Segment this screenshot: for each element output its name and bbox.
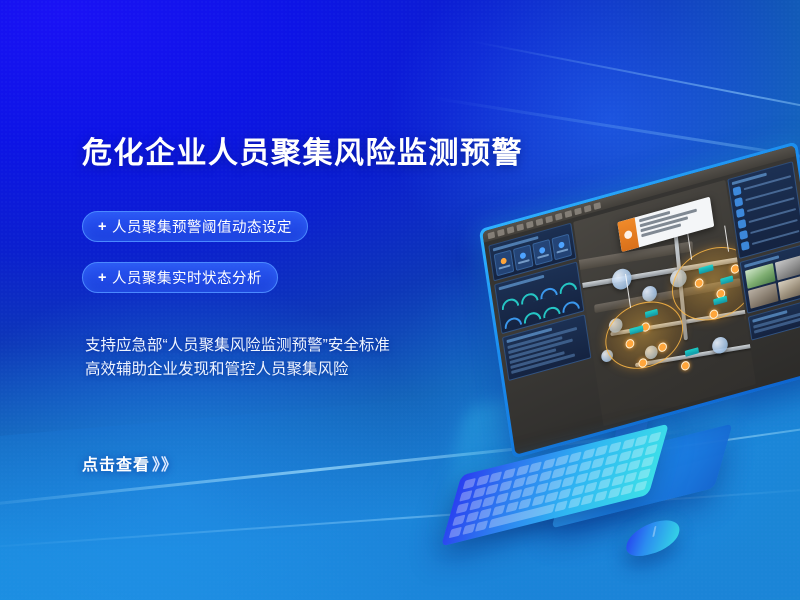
alarm-list-card [727,161,800,259]
gauge-ring [541,297,561,319]
description-line-1: 支持应急部“人员聚集风险监测预警”安全标准 [85,334,390,358]
cta-link[interactable]: 点击查看》》 [82,451,178,475]
feature-pill-label: 人员聚集预警阈值动态设定 [112,216,292,237]
feature-pill-label: 人员聚集实时状态分析 [112,267,262,288]
gauge-icon [558,241,565,249]
gauge-ring [499,289,519,311]
plant-3d-scene[interactable] [573,180,756,426]
monitor [479,141,800,458]
person-icon [520,252,527,260]
page-title: 危化企业人员聚集风险监测预警 [82,128,523,172]
header-tab-icon[interactable] [507,226,515,234]
gauge-ring [519,283,539,305]
plus-icon: + [98,270,107,286]
header-tab-icon[interactable] [497,228,505,236]
warning-icon [624,230,633,240]
dashboard-body [484,156,800,455]
alert-icon [539,247,546,255]
list-item-icon [741,241,750,251]
header-tab-icon[interactable] [574,207,582,215]
gauge-ring [522,302,542,324]
list-item-icon [733,186,742,196]
header-tab-icon[interactable] [536,218,544,226]
cta-label: 点击查看 [82,457,150,474]
person-icon [500,257,507,265]
list-item-icon [736,208,745,218]
gauge-ring [502,307,522,329]
double-chevron-right-icon: 》》 [152,457,178,474]
description-block: 支持应急部“人员聚集风险监测预警”安全标准 高效辅助企业发现和管控人员聚集风险 [85,334,390,382]
storage-tank [611,266,633,291]
feature-pill-realtime[interactable]: + 人员聚集实时状态分析 [82,262,278,293]
header-tab-icon[interactable] [555,212,563,220]
header-tab-icon[interactable] [564,210,572,218]
header-tab-icon[interactable] [487,231,495,239]
person-marker[interactable] [680,360,690,371]
monitor-bezel [479,141,800,458]
list-item-icon [738,219,747,229]
alarm-popup-card[interactable] [617,197,714,253]
header-tab-icon[interactable] [526,220,534,228]
plus-icon: + [98,219,107,235]
header-tab-icon[interactable] [516,223,524,231]
gauge-ring [538,278,558,300]
stat-tile[interactable] [532,239,553,266]
feature-pill-threshold[interactable]: + 人员聚集预警阈值动态设定 [82,211,308,242]
list-item-icon [734,197,743,207]
header-tab-icon[interactable] [545,215,553,223]
header-tab-icon[interactable] [593,202,601,210]
stat-tile[interactable] [551,234,572,261]
list-item-icon [739,230,748,240]
description-line-2: 高效辅助企业发现和管控人员聚集风险 [85,358,390,382]
stat-tile[interactable] [494,250,515,277]
monitor-screen[interactable] [482,145,800,455]
desktop-computer-illustration [430,185,800,585]
promo-banner: 危化企业人员聚集风险监测预警 + 人员聚集预警阈值动态设定 + 人员聚集实时状态… [0,0,800,600]
gauge-ring [557,272,577,294]
header-tab-icon[interactable] [584,204,592,212]
gauge-ring [560,291,580,313]
stat-tile[interactable] [513,244,534,271]
